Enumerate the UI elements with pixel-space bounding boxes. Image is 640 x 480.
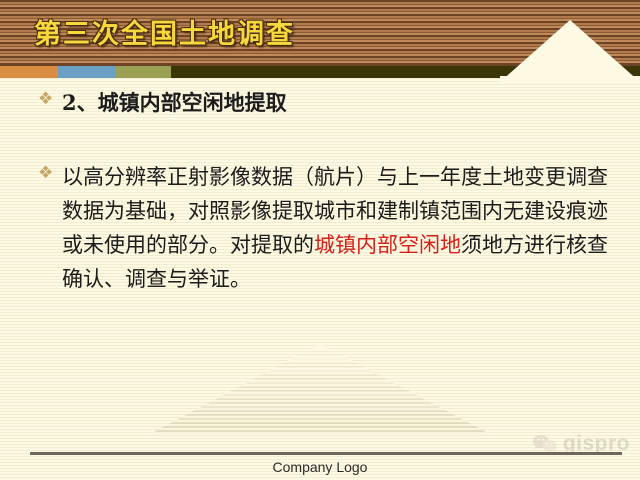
bullet-heading-text: 2、城镇内部空闲地提取 [62, 86, 608, 120]
accent-segment-blue [58, 66, 115, 78]
accent-color-bar [0, 66, 640, 78]
footer-divider [30, 452, 622, 455]
paragraph-emphasis: 城镇内部空闲地 [314, 233, 461, 257]
accent-segment-olive [115, 66, 171, 78]
page-title: 第三次全国土地调查 [34, 12, 295, 51]
bullet-item-paragraph: ❖ 以高分辨率正射影像数据（航片）与上一年度土地变更调查数据为基础，对照影像提取… [0, 160, 640, 296]
slide: 第三次全国土地调查 ❖ 2、城镇内部空闲地提取 ❖ 以高分辨率正射影像数据（航片… [0, 0, 640, 480]
diamond-bullet-icon: ❖ [38, 164, 53, 181]
bullet-paragraph-text: 以高分辨率正射影像数据（航片）与上一年度土地变更调查数据为基础，对照影像提取城市… [62, 160, 608, 296]
slide-content: ❖ 2、城镇内部空闲地提取 ❖ 以高分辨率正射影像数据（航片）与上一年度土地变更… [0, 78, 640, 408]
company-logo-caption: Company Logo [0, 459, 640, 475]
diamond-bullet-icon: ❖ [38, 90, 53, 107]
accent-segment-orange [0, 66, 58, 78]
accent-segment-dark-olive [171, 66, 640, 78]
bullet-item-heading: ❖ 2、城镇内部空闲地提取 [0, 86, 640, 120]
slide-header: 第三次全国土地调查 [0, 0, 640, 66]
